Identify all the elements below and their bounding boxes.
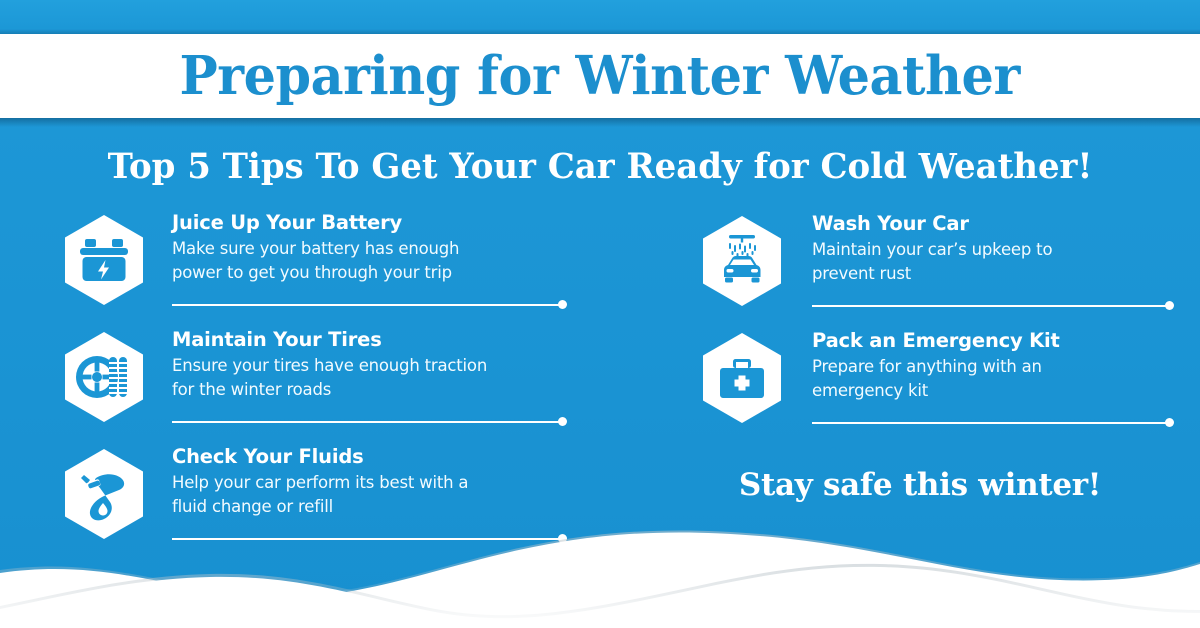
tip-description: Prepare for anything with an emergency k… — [812, 355, 1060, 402]
infographic-poster: Preparing for Winter Weather Top 5 Tips … — [0, 0, 1200, 628]
top-accent-strip — [0, 0, 1200, 34]
tip-divider — [172, 300, 567, 309]
divider-line — [172, 421, 560, 423]
car-battery-icon — [62, 214, 146, 306]
tip-description-line: emergency kit — [812, 379, 1060, 402]
divider-line — [812, 422, 1167, 424]
tip-text-block: Wash Your Car Maintain your car’s upkeep… — [812, 213, 1052, 285]
page-subtitle: Top 5 Tips To Get Your Car Ready for Col… — [18, 146, 1182, 187]
tip-description-line: Maintain your car’s upkeep to — [812, 238, 1052, 261]
tip-item: Pack an Emergency Kit Prepare for anythi… — [700, 330, 1200, 447]
page-title: Preparing for Winter Weather — [180, 50, 1020, 103]
tip-text-block: Maintain Your Tires Ensure your tires ha… — [172, 329, 487, 401]
divider-line — [172, 304, 560, 306]
tip-divider — [812, 418, 1174, 427]
divider-end-dot — [558, 300, 567, 309]
tip-description: Ensure your tires have enough traction f… — [172, 354, 487, 401]
tip-text-block: Pack an Emergency Kit Prepare for anythi… — [812, 330, 1060, 402]
tip-divider — [812, 301, 1174, 310]
tip-description-line: Prepare for anything with an — [812, 355, 1060, 378]
tip-description-line: fluid change or refill — [172, 495, 468, 518]
title-band: Preparing for Winter Weather — [0, 34, 1200, 118]
tip-description-line: Ensure your tires have enough traction — [172, 354, 487, 377]
tip-item: Wash Your Car Maintain your car’s upkeep… — [700, 213, 1200, 330]
tip-text-block: Check Your Fluids Help your car perform … — [172, 446, 468, 518]
tip-description-line: Make sure your battery has enough — [172, 237, 459, 260]
tip-description-line: Help your car perform its best with a — [172, 471, 468, 494]
tip-title: Pack an Emergency Kit — [812, 330, 1060, 352]
divider-end-dot — [1165, 301, 1174, 310]
first-aid-kit-icon — [700, 332, 784, 424]
tip-title: Wash Your Car — [812, 213, 1052, 235]
divider-end-dot — [1165, 418, 1174, 427]
closing-statement: Stay safe this winter! — [700, 467, 1140, 503]
tips-column-right: Wash Your Car Maintain your car’s upkeep… — [700, 213, 1200, 447]
tips-column-left: Juice Up Your Battery Make sure your bat… — [62, 212, 562, 563]
car-wash-icon — [700, 215, 784, 307]
tip-item: Maintain Your Tires Ensure your tires ha… — [62, 329, 562, 446]
tip-description: Help your car perform its best with a fl… — [172, 471, 468, 518]
divider-end-dot — [558, 417, 567, 426]
snow-waves-decoration — [0, 518, 1200, 628]
tip-title: Juice Up Your Battery — [172, 212, 459, 234]
divider-line — [812, 305, 1167, 307]
tip-item: Juice Up Your Battery Make sure your bat… — [62, 212, 562, 329]
tip-description-line: power to get you through your trip — [172, 261, 459, 284]
tip-description: Maintain your car’s upkeep to prevent ru… — [812, 238, 1052, 285]
tip-description: Make sure your battery has enough power … — [172, 237, 459, 284]
tire-icon — [62, 331, 146, 423]
tip-description-line: for the winter roads — [172, 378, 487, 401]
tip-title: Check Your Fluids — [172, 446, 468, 468]
tip-title: Maintain Your Tires — [172, 329, 487, 351]
tip-text-block: Juice Up Your Battery Make sure your bat… — [172, 212, 459, 284]
tip-divider — [172, 417, 567, 426]
tip-description-line: prevent rust — [812, 262, 1052, 285]
